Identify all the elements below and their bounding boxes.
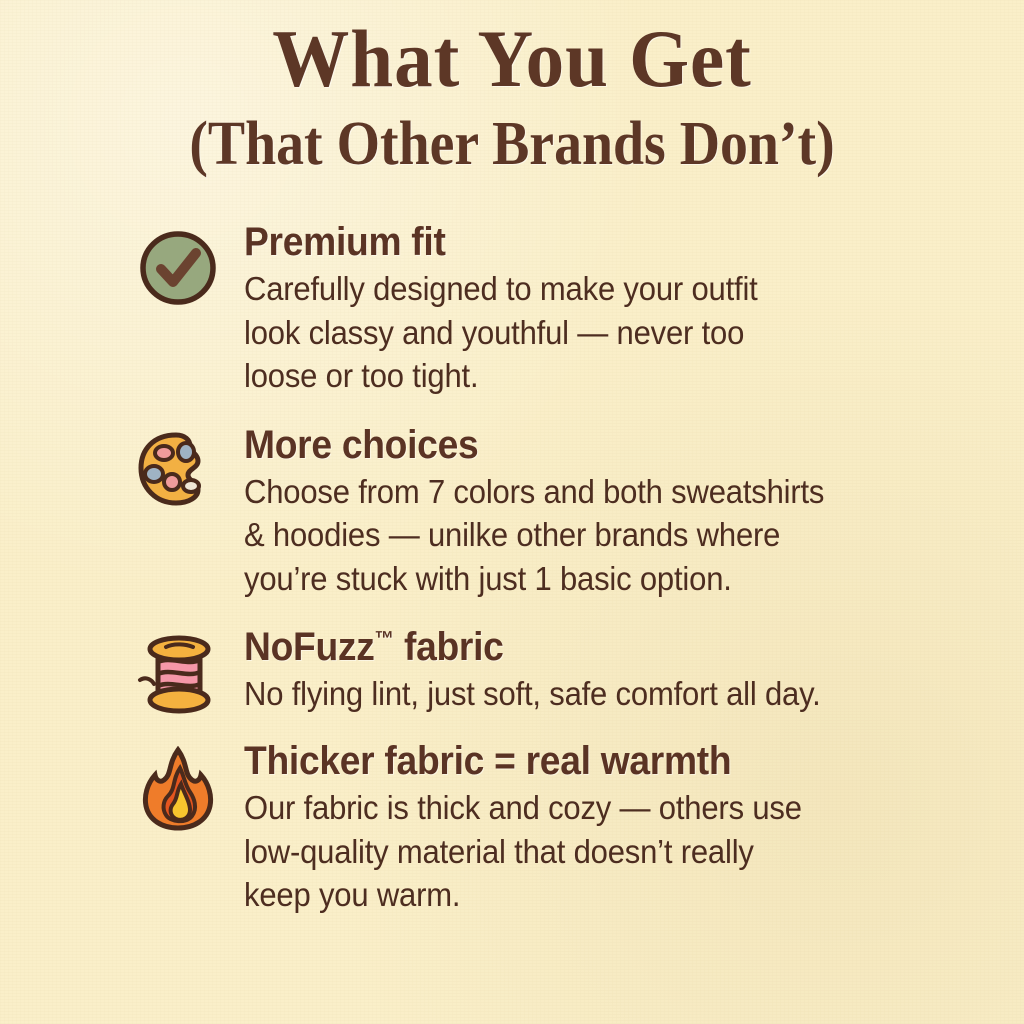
feature-text-line: look classy and youthful — never too [244,311,936,355]
feature-title: Premium fit [244,221,928,263]
feature-text: Carefully designed to make your outfit l… [244,267,936,398]
feature-text: No flying lint, just soft, safe comfort … [244,672,936,716]
list-item: NoFuzz™ fabric No flying lint, just soft… [136,628,980,716]
feature-text-line: low-quality material that doesn’t really [244,830,936,874]
feature-body: Thicker fabric = real warmth Our fabric … [220,740,980,917]
feature-text: Choose from 7 colors and both sweatshirt… [244,470,936,601]
feature-title: More choices [244,424,928,466]
feature-text-line: Choose from 7 colors and both sweatshirt… [244,470,936,514]
feature-title-suffix: fabric [394,625,504,669]
feature-body: More choices Choose from 7 colors and bo… [220,424,980,601]
feature-text-line: No flying lint, just soft, safe comfort … [244,672,936,716]
feature-text-line: Our fabric is thick and cozy — others us… [244,786,936,830]
feature-title: Thicker fabric = real warmth [244,740,928,782]
feature-text-line: you’re stuck with just 1 basic option. [244,557,936,601]
check-circle-icon [136,227,220,311]
flame-icon [136,746,220,830]
feature-text-line: Carefully designed to make your outfit [244,267,936,311]
feature-title-text: NoFuzz [244,625,375,669]
feature-text-line: loose or too tight. [244,354,936,398]
page-subtitle: (That Other Brands Don’t) [51,112,973,177]
feature-body: Premium fit Carefully designed to make y… [220,221,980,398]
list-item: More choices Choose from 7 colors and bo… [136,426,980,601]
paint-palette-icon [136,430,220,514]
list-item: Thicker fabric = real warmth Our fabric … [136,742,980,917]
feature-list: Premium fit Carefully designed to make y… [0,223,1024,917]
list-item: Premium fit Carefully designed to make y… [136,223,980,398]
feature-title: NoFuzz™ fabric [244,626,928,668]
header: What You Get (That Other Brands Don’t) [0,0,1024,177]
thread-spool-icon [136,632,220,716]
feature-body: NoFuzz™ fabric No flying lint, just soft… [220,626,980,716]
feature-text: Our fabric is thick and cozy — others us… [244,786,936,917]
page-title: What You Get [31,18,994,100]
feature-text-line: keep you warm. [244,873,936,917]
feature-text-line: & hoodies — unilke other brands where [244,513,936,557]
promo-graphic: What You Get (That Other Brands Don’t) P… [0,0,1024,1024]
trademark-symbol: ™ [375,628,394,651]
